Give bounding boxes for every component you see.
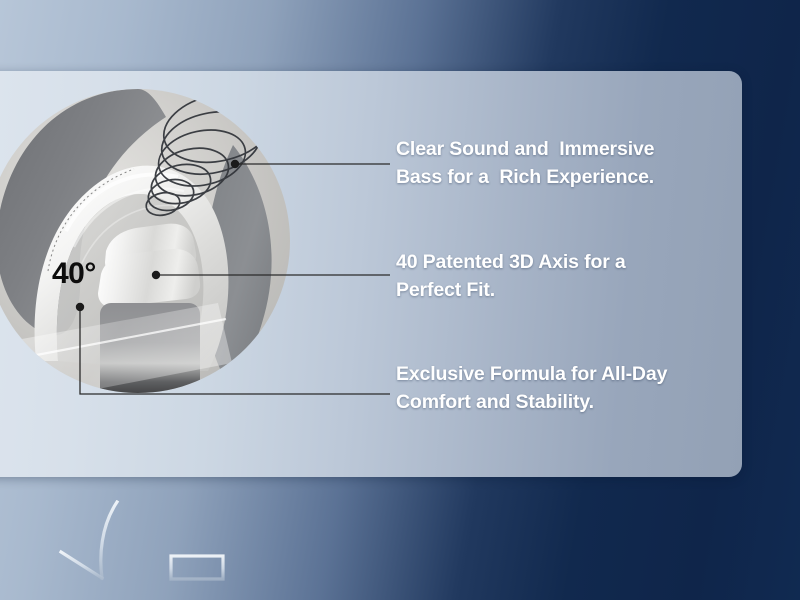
callout-line-1: Clear Sound and Immersive (396, 136, 736, 164)
callout-list: Clear Sound and Immersive Bass for a Ric… (396, 71, 742, 477)
callout-line-1: Exclusive Formula for All-Day (396, 361, 736, 389)
content-panel: 40° Clear Sound and Immersive Bass for a… (0, 71, 742, 477)
logo-letter-n-diagonal (61, 552, 102, 578)
callout-sound-quality: Clear Sound and Immersive Bass for a Ric… (396, 136, 736, 191)
callout-line-1: 40 Patented 3D Axis for a (396, 249, 736, 277)
callout-patented-axis: 40 Patented 3D Axis for a Perfect Fit. (396, 249, 736, 304)
leader-dot-3 (76, 303, 84, 311)
brand-logo: NEO (55, 500, 245, 585)
callout-line-2: Comfort and Stability. (396, 389, 736, 417)
slide-canvas: 40° Clear Sound and Immersive Bass for a… (0, 0, 800, 600)
callout-comfort-formula: Exclusive Formula for All-Day Comfort an… (396, 361, 736, 416)
earbud-cutaway-svg (0, 71, 390, 477)
callout-line-2: Bass for a Rich Experience. (396, 164, 736, 192)
leader-dot-2 (152, 271, 160, 279)
logo-letter-o (171, 556, 223, 579)
leader-dot-1 (231, 160, 239, 168)
neo-wordmark-svg: NEO (55, 500, 245, 585)
callout-line-2: Perfect Fit. (396, 277, 736, 305)
product-illustration: 40° (0, 71, 390, 477)
